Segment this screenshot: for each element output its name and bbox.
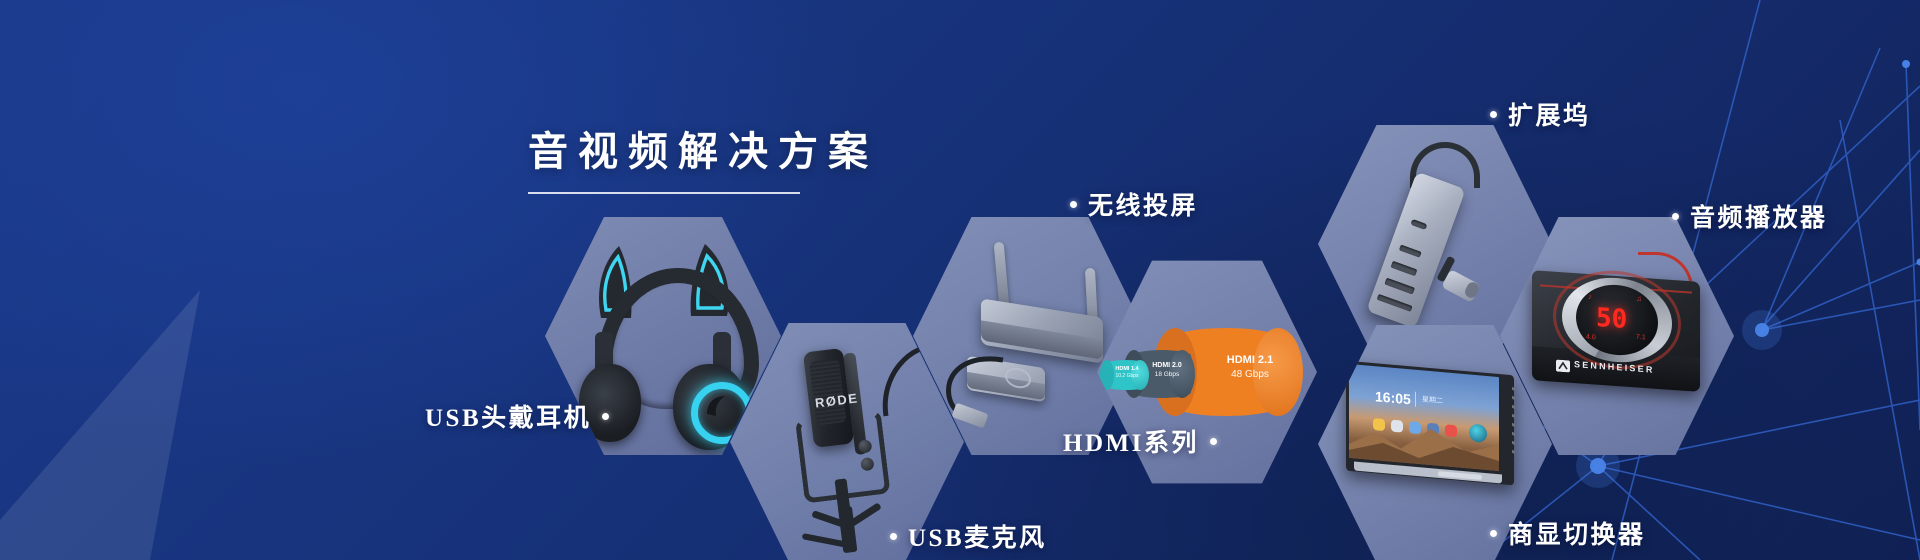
amp-bottom-right: 7.1 — [1636, 334, 1646, 342]
label-text: 无线投屏 — [1088, 186, 1198, 222]
amp-left-glyph: ♪ — [1588, 292, 1592, 301]
label-audio-player[interactable]: 音频播放器 — [1672, 198, 1828, 234]
label-text: 音频播放器 — [1690, 198, 1828, 234]
label-docking-station[interactable]: 扩展坞 — [1490, 96, 1591, 132]
label-text: 扩展坞 — [1508, 96, 1591, 132]
label-text: HDMI系列 — [1063, 423, 1199, 459]
hdmi-21-label: HDMI 2.1 48 Gbps — [1207, 354, 1293, 382]
amp-right-glyph: ♫ — [1636, 294, 1642, 303]
label-text: 商显切换器 — [1508, 515, 1646, 551]
bullet-dot — [890, 533, 897, 540]
hdmi-14-label: HDMI 1.4 10.2 Gbps — [1109, 366, 1145, 380]
amp-volume-value: 50 — [1596, 303, 1627, 335]
page-title: 音视频解决方案 — [528, 132, 878, 172]
bullet-dot — [602, 413, 609, 420]
label-wireless-casting[interactable]: 无线投屏 — [1070, 186, 1198, 222]
label-display-switcher[interactable]: 商显切换器 — [1490, 515, 1646, 551]
label-usb-headset[interactable]: USB头戴耳机 — [425, 398, 609, 434]
display-date: 星期二 — [1422, 394, 1443, 406]
title-underline — [528, 192, 800, 194]
label-hdmi-series[interactable]: HDMI系列 — [1063, 423, 1217, 459]
label-usb-microphone[interactable]: USB麦克风 — [890, 518, 1047, 554]
label-text: USB麦克风 — [908, 518, 1047, 554]
amp-bottom-left: 4.0 — [1586, 334, 1596, 342]
page-title-block: 音视频解决方案 — [528, 132, 878, 194]
label-text: USB头戴耳机 — [425, 398, 591, 434]
bullet-dot — [1490, 530, 1497, 537]
bullet-dot — [1070, 201, 1077, 208]
display-time: 16:05 — [1375, 388, 1411, 407]
banner-root: 音视频解决方案 USB — [0, 0, 1920, 560]
bullet-dot — [1210, 438, 1217, 445]
bullet-dot — [1490, 111, 1497, 118]
bullet-dot — [1672, 213, 1679, 220]
